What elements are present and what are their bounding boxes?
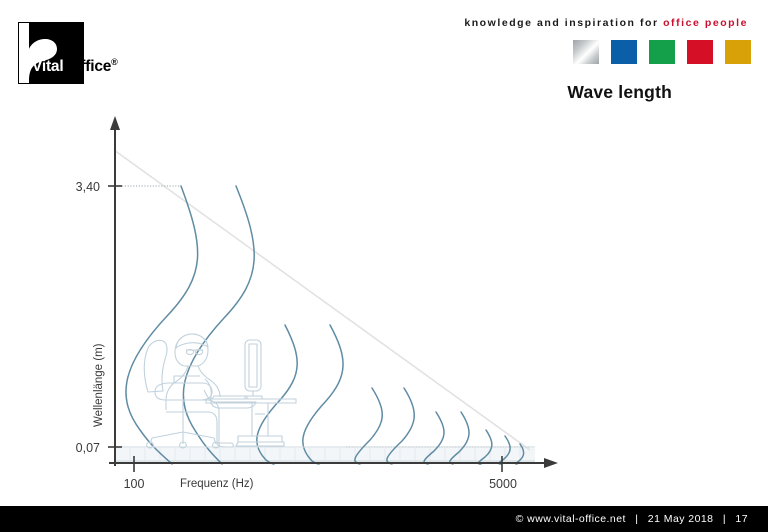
footer-separator-2: | [717, 513, 732, 525]
wavelength-chart: 3,40 0,07 100 5000 Frequenz (Hz) Wellenl… [0, 100, 768, 500]
logo-wordmark-vital: Vital [32, 58, 63, 75]
brand-logo: Vital-Office® [18, 22, 140, 84]
tagline-accent-text: office people [663, 17, 748, 29]
footer-date: 21 May 2018 [648, 513, 714, 525]
swatch-gold [725, 40, 751, 64]
swatch-silver [573, 40, 599, 64]
x-tick-label-100: 100 [124, 477, 145, 491]
wave-curve-1 [126, 186, 198, 464]
header-tagline: knowledge and inspiration for office peo… [464, 17, 748, 29]
desk-monitor [245, 340, 262, 399]
footer-text: © www.vital-office.net | 21 May 2018 | 1… [516, 506, 748, 532]
logo-wordmark-office: -Office [63, 58, 111, 75]
floor-band [115, 447, 535, 462]
y-axis-arrow [110, 116, 120, 130]
footer-copyright-icon: © [516, 513, 524, 525]
keyboard [212, 396, 248, 399]
wave-curve-4 [303, 325, 343, 464]
workplace-illustration [118, 334, 345, 448]
logo-registered-mark: ® [111, 57, 117, 67]
swatch-red [687, 40, 713, 64]
x-axis-title: Frequenz (Hz) [180, 478, 254, 490]
footer-website[interactable]: www.vital-office.net [527, 513, 626, 525]
logo-wordmark: Vital-Office® [32, 58, 118, 75]
y-tick-label-007: 0,07 [76, 441, 100, 455]
wave-curves [126, 186, 524, 464]
y-axis-title: Wellenlänge (m) [93, 343, 105, 427]
wavelength-chart-svg: 3,40 0,07 100 5000 Frequenz (Hz) Wellenl… [0, 100, 768, 500]
y-tick-label-340: 3,40 [76, 180, 100, 194]
footer-bar: © www.vital-office.net | 21 May 2018 | 1… [0, 506, 768, 532]
swatch-green [649, 40, 675, 64]
office-chair [144, 340, 219, 448]
seated-person [166, 334, 256, 447]
swatch-blue [611, 40, 637, 64]
x-axis-arrow [544, 458, 558, 468]
brand-color-swatches [573, 40, 751, 64]
x-tick-label-5000: 5000 [489, 477, 517, 491]
tagline-plain-text: knowledge and inspiration for [464, 17, 658, 29]
chart-axes [108, 116, 558, 472]
footer-separator-1: | [629, 513, 644, 525]
footer-page-number: 17 [735, 513, 748, 525]
wave-curve-3 [257, 325, 297, 464]
